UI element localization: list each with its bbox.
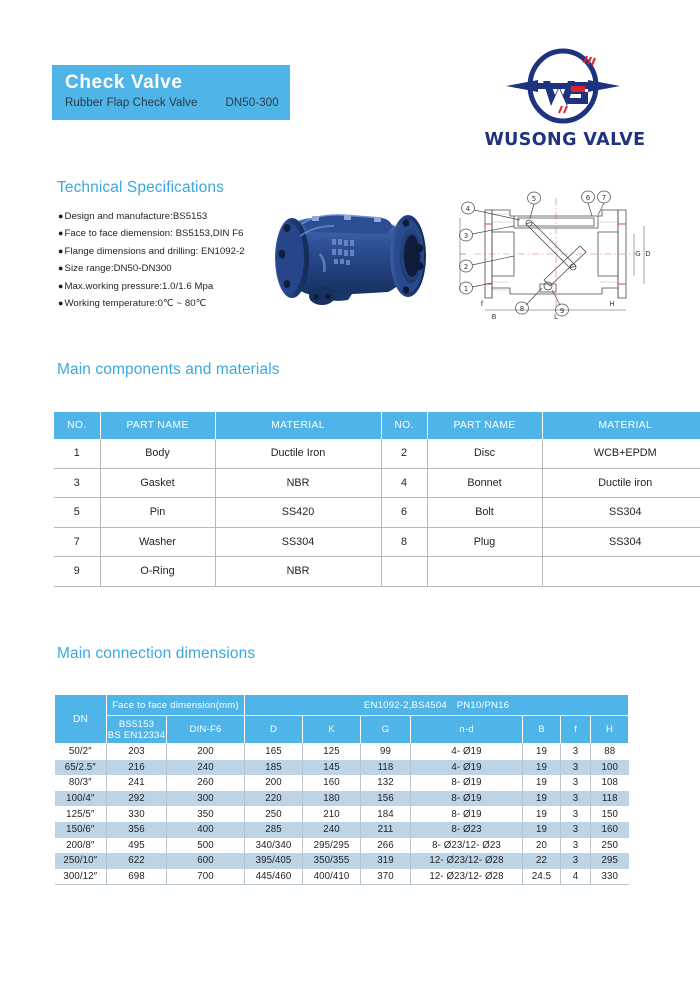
svg-text:9: 9 (560, 307, 564, 315)
svg-text:B: B (492, 313, 497, 321)
cell-nd: 8- Ø23 (411, 822, 523, 838)
cell-material: NBR (215, 468, 381, 498)
cell-material (542, 557, 700, 587)
column-header-f: f (561, 716, 591, 744)
table-header-row-sub: BS5153 BS EN12334 DIN-F6 D K G n-d B f H (55, 716, 629, 744)
bullet-icon: ● (58, 263, 64, 273)
list-item: ●Flange dimensions and drilling: EN1092-… (58, 243, 273, 260)
cell-nd: 8- Ø19 (411, 806, 523, 822)
cell-partname (427, 557, 542, 587)
list-item: ●Face to face diemension: BS5153,DIN F6 (58, 225, 273, 242)
table-row: 200/8″ 495 500 340/340 295/295 266 8- Ø2… (55, 838, 629, 854)
list-item: ●Max.working pressure:1.0/1.6 Mpa (58, 278, 273, 295)
cell-no: 1 (54, 439, 100, 468)
cell-no: 9 (54, 557, 100, 587)
cell-dinf6: 600 (167, 853, 245, 869)
cell-k: 145 (303, 760, 361, 776)
cell-bs5153: 330 (107, 806, 167, 822)
cell-partname: Gasket (100, 468, 215, 498)
cell-g: 184 (361, 806, 411, 822)
column-header-b: B (523, 716, 561, 744)
company-logo: WUSONG VALVE (470, 48, 660, 160)
table-row: 7 Washer SS304 8 Plug SS304 (54, 527, 700, 557)
table-row: 80/3″ 241 260 200 160 132 8- Ø19 19 3 10… (55, 775, 629, 791)
table-row: 125/5″ 330 350 250 210 184 8- Ø19 19 3 1… (55, 806, 629, 822)
cell-h: 88 (591, 744, 629, 760)
cell-b: 24.5 (523, 869, 561, 885)
product-photo (256, 196, 442, 324)
column-header-din-f6: DIN-F6 (167, 716, 245, 744)
cell-partname: Bolt (427, 498, 542, 528)
cell-dinf6: 350 (167, 806, 245, 822)
cell-h: 295 (591, 853, 629, 869)
bullet-icon: ● (58, 298, 64, 308)
cell-bs5153: 241 (107, 775, 167, 791)
list-item: ●Design and manufacture:BS5153 (58, 208, 273, 225)
cell-b: 19 (523, 822, 561, 838)
table-row: 100/4″ 292 300 220 180 156 8- Ø19 19 3 1… (55, 791, 629, 807)
cell-partname: Body (100, 439, 215, 468)
cell-k: 210 (303, 806, 361, 822)
svg-text:2: 2 (464, 263, 468, 271)
spec-text: Working temperature:0℃ ~ 80℃ (65, 298, 207, 309)
cell-partname: Washer (100, 527, 215, 557)
column-header-partname-left: PART NAME (100, 412, 215, 439)
cell-no: 2 (381, 439, 427, 468)
cell-nd: 12- Ø23/12- Ø28 (411, 869, 523, 885)
svg-text:1: 1 (464, 285, 468, 293)
cell-material: Ductile iron (542, 468, 700, 498)
cell-h: 100 (591, 760, 629, 776)
dimensions-table-body: 50/2″ 203 200 165 125 99 4- Ø19 19 3 88 … (55, 744, 629, 885)
svg-text:3: 3 (464, 232, 468, 240)
cell-k: 125 (303, 744, 361, 760)
cell-no: 7 (54, 527, 100, 557)
svg-text:f: f (481, 300, 484, 308)
cell-b: 20 (523, 838, 561, 854)
column-header-h: H (591, 716, 629, 744)
cell-bs5153: 356 (107, 822, 167, 838)
datasheet-page: Check Valve Rubber Flap Check Valve DN50… (0, 0, 700, 1001)
cell-material: SS304 (542, 498, 700, 528)
dimensions-table: DN Face to face dimension(mm) EN1092-2,B… (54, 694, 629, 885)
bullet-icon: ● (58, 228, 64, 238)
cell-material: Ductile Iron (215, 439, 381, 468)
components-table: NO. PART NAME MATERIAL NO. PART NAME MAT… (54, 412, 700, 587)
column-header-k: K (303, 716, 361, 744)
table-header-row-top: DN Face to face dimension(mm) EN1092-2,B… (55, 695, 629, 716)
cell-dn: 100/4″ (55, 791, 107, 807)
cell-g: 211 (361, 822, 411, 838)
cell-d: 200 (245, 775, 303, 791)
list-item: ●Size range:DN50-DN300 (58, 260, 273, 277)
spec-text: Design and manufacture:BS5153 (65, 211, 208, 222)
cell-dn: 200/8″ (55, 838, 107, 854)
spec-text: Max.working pressure:1.0/1.6 Mpa (65, 281, 214, 292)
product-subtitle: Rubber Flap Check Valve (65, 97, 197, 109)
cell-no: 5 (54, 498, 100, 528)
table-header-row: NO. PART NAME MATERIAL NO. PART NAME MAT… (54, 412, 700, 439)
svg-text:6: 6 (586, 194, 591, 202)
cell-h: 160 (591, 822, 629, 838)
cell-partname: Plug (427, 527, 542, 557)
cell-partname: Bonnet (427, 468, 542, 498)
header-line-2: BS EN12334 (107, 730, 166, 741)
cell-dn: 50/2″ (55, 744, 107, 760)
cell-b: 22 (523, 853, 561, 869)
cell-k: 160 (303, 775, 361, 791)
table-row: 3 Gasket NBR 4 Bonnet Ductile iron (54, 468, 700, 498)
cell-k: 400/410 (303, 869, 361, 885)
cell-dinf6: 200 (167, 744, 245, 760)
svg-text:L: L (554, 313, 558, 321)
cell-d: 185 (245, 760, 303, 776)
section-heading-main-connection-dimensions: Main connection dimensions (57, 645, 255, 663)
cell-nd: 12- Ø23/12- Ø28 (411, 853, 523, 869)
cell-dinf6: 500 (167, 838, 245, 854)
cell-material: SS304 (542, 527, 700, 557)
cell-d: 165 (245, 744, 303, 760)
list-item: ●Working temperature:0℃ ~ 80℃ (58, 295, 273, 312)
header-line-1: BS5153 (107, 719, 166, 730)
cell-b: 19 (523, 775, 561, 791)
cell-k: 180 (303, 791, 361, 807)
cell-bs5153: 698 (107, 869, 167, 885)
cell-dn: 250/10″ (55, 853, 107, 869)
cell-g: 132 (361, 775, 411, 791)
cell-f: 3 (561, 744, 591, 760)
table-row: 250/10″ 622 600 395/405 350/355 319 12- … (55, 853, 629, 869)
column-header-no-right: NO. (381, 412, 427, 439)
section-heading-technical-specifications: Technical Specifications (57, 179, 224, 197)
table-row: 65/2.5″ 216 240 185 145 118 4- Ø19 19 3 … (55, 760, 629, 776)
cell-material: NBR (215, 557, 381, 587)
cell-nd: 4- Ø19 (411, 744, 523, 760)
cell-dinf6: 260 (167, 775, 245, 791)
bullet-icon: ● (58, 211, 64, 221)
cell-b: 19 (523, 806, 561, 822)
cell-f: 4 (561, 869, 591, 885)
cell-bs5153: 216 (107, 760, 167, 776)
cell-nd: 4- Ø19 (411, 760, 523, 776)
column-group-flange-standard: EN1092-2,BS4504 PN10/PN16 (245, 695, 629, 716)
cell-no: 6 (381, 498, 427, 528)
cell-no: 4 (381, 468, 427, 498)
cell-f: 3 (561, 775, 591, 791)
cell-dinf6: 400 (167, 822, 245, 838)
svg-text:7: 7 (602, 194, 606, 202)
cell-h: 250 (591, 838, 629, 854)
valve-cross-section-drawing: 12 34 56 78 9 GD LB fH (452, 188, 656, 322)
cell-bs5153: 495 (107, 838, 167, 854)
spec-text: Size range:DN50-DN300 (65, 263, 172, 274)
cell-nd: 8- Ø19 (411, 791, 523, 807)
cell-d: 340/340 (245, 838, 303, 854)
cell-d: 250 (245, 806, 303, 822)
cell-bs5153: 622 (107, 853, 167, 869)
cell-bs5153: 203 (107, 744, 167, 760)
cell-dinf6: 700 (167, 869, 245, 885)
svg-text:H: H (609, 300, 614, 308)
cell-g: 370 (361, 869, 411, 885)
cell-material: WCB+EPDM (542, 439, 700, 468)
company-name: WUSONG VALVE (470, 130, 660, 150)
bullet-icon: ● (58, 281, 64, 291)
cell-g: 156 (361, 791, 411, 807)
cell-material: SS304 (215, 527, 381, 557)
bullet-icon: ● (58, 246, 64, 256)
product-title-block: Check Valve Rubber Flap Check Valve DN50… (52, 65, 290, 120)
cell-dinf6: 300 (167, 791, 245, 807)
cell-f: 3 (561, 838, 591, 854)
table-row: 9 O-Ring NBR (54, 557, 700, 587)
column-header-bs5153: BS5153 BS EN12334 (107, 716, 167, 744)
table-row: 150/6″ 356 400 285 240 211 8- Ø23 19 3 1… (55, 822, 629, 838)
cell-k: 295/295 (303, 838, 361, 854)
cell-dn: 300/12″ (55, 869, 107, 885)
page-title: Check Valve (65, 72, 290, 94)
cell-g: 99 (361, 744, 411, 760)
section-heading-main-components: Main components and materials (57, 361, 280, 379)
cell-f: 3 (561, 853, 591, 869)
spec-text: Flange dimensions and drilling: EN1092-2 (65, 246, 245, 257)
cell-partname: Pin (100, 498, 215, 528)
spec-text: Face to face diemension: BS5153,DIN F6 (65, 228, 244, 239)
cell-d: 285 (245, 822, 303, 838)
svg-text:G: G (635, 250, 640, 258)
cell-d: 445/460 (245, 869, 303, 885)
cell-g: 118 (361, 760, 411, 776)
cell-k: 240 (303, 822, 361, 838)
cell-material: SS420 (215, 498, 381, 528)
column-header-n-d: n-d (411, 716, 523, 744)
product-size-range: DN50-300 (225, 97, 278, 109)
cell-h: 330 (591, 869, 629, 885)
table-row: 50/2″ 203 200 165 125 99 4- Ø19 19 3 88 (55, 744, 629, 760)
svg-text:8: 8 (520, 305, 524, 313)
cell-b: 19 (523, 744, 561, 760)
cell-no: 3 (54, 468, 100, 498)
column-header-material-right: MATERIAL (542, 412, 700, 439)
cell-h: 108 (591, 775, 629, 791)
cell-g: 319 (361, 853, 411, 869)
cell-dn: 65/2.5″ (55, 760, 107, 776)
cell-dinf6: 240 (167, 760, 245, 776)
technical-spec-list: ●Design and manufacture:BS5153 ●Face to … (58, 208, 273, 312)
column-header-g: G (361, 716, 411, 744)
cell-partname: O-Ring (100, 557, 215, 587)
cell-f: 3 (561, 822, 591, 838)
svg-text:5: 5 (532, 195, 536, 203)
cell-dn: 150/6″ (55, 822, 107, 838)
column-header-d: D (245, 716, 303, 744)
column-header-partname-right: PART NAME (427, 412, 542, 439)
cell-dn: 80/3″ (55, 775, 107, 791)
cell-nd: 8- Ø23/12- Ø23 (411, 838, 523, 854)
table-row: 5 Pin SS420 6 Bolt SS304 (54, 498, 700, 528)
cell-k: 350/355 (303, 853, 361, 869)
cell-no: 8 (381, 527, 427, 557)
cell-d: 395/405 (245, 853, 303, 869)
column-header-material-left: MATERIAL (215, 412, 381, 439)
cell-h: 118 (591, 791, 629, 807)
cell-b: 19 (523, 791, 561, 807)
cell-bs5153: 292 (107, 791, 167, 807)
table-row: 1 Body Ductile Iron 2 Disc WCB+EPDM (54, 439, 700, 468)
cell-d: 220 (245, 791, 303, 807)
svg-text:D: D (645, 250, 650, 258)
table-row: 300/12″ 698 700 445/460 400/410 370 12- … (55, 869, 629, 885)
svg-text:4: 4 (466, 205, 471, 213)
cell-nd: 8- Ø19 (411, 775, 523, 791)
cell-no (381, 557, 427, 587)
cell-dn: 125/5″ (55, 806, 107, 822)
cell-f: 3 (561, 791, 591, 807)
cell-b: 19 (523, 760, 561, 776)
cell-h: 150 (591, 806, 629, 822)
column-group-face-to-face: Face to face dimension(mm) (107, 695, 245, 716)
cell-partname: Disc (427, 439, 542, 468)
column-header-dn: DN (55, 695, 107, 744)
cell-f: 3 (561, 806, 591, 822)
cell-g: 266 (361, 838, 411, 854)
column-header-no-left: NO. (54, 412, 100, 439)
logo-mark-icon (498, 48, 628, 128)
cell-f: 3 (561, 760, 591, 776)
